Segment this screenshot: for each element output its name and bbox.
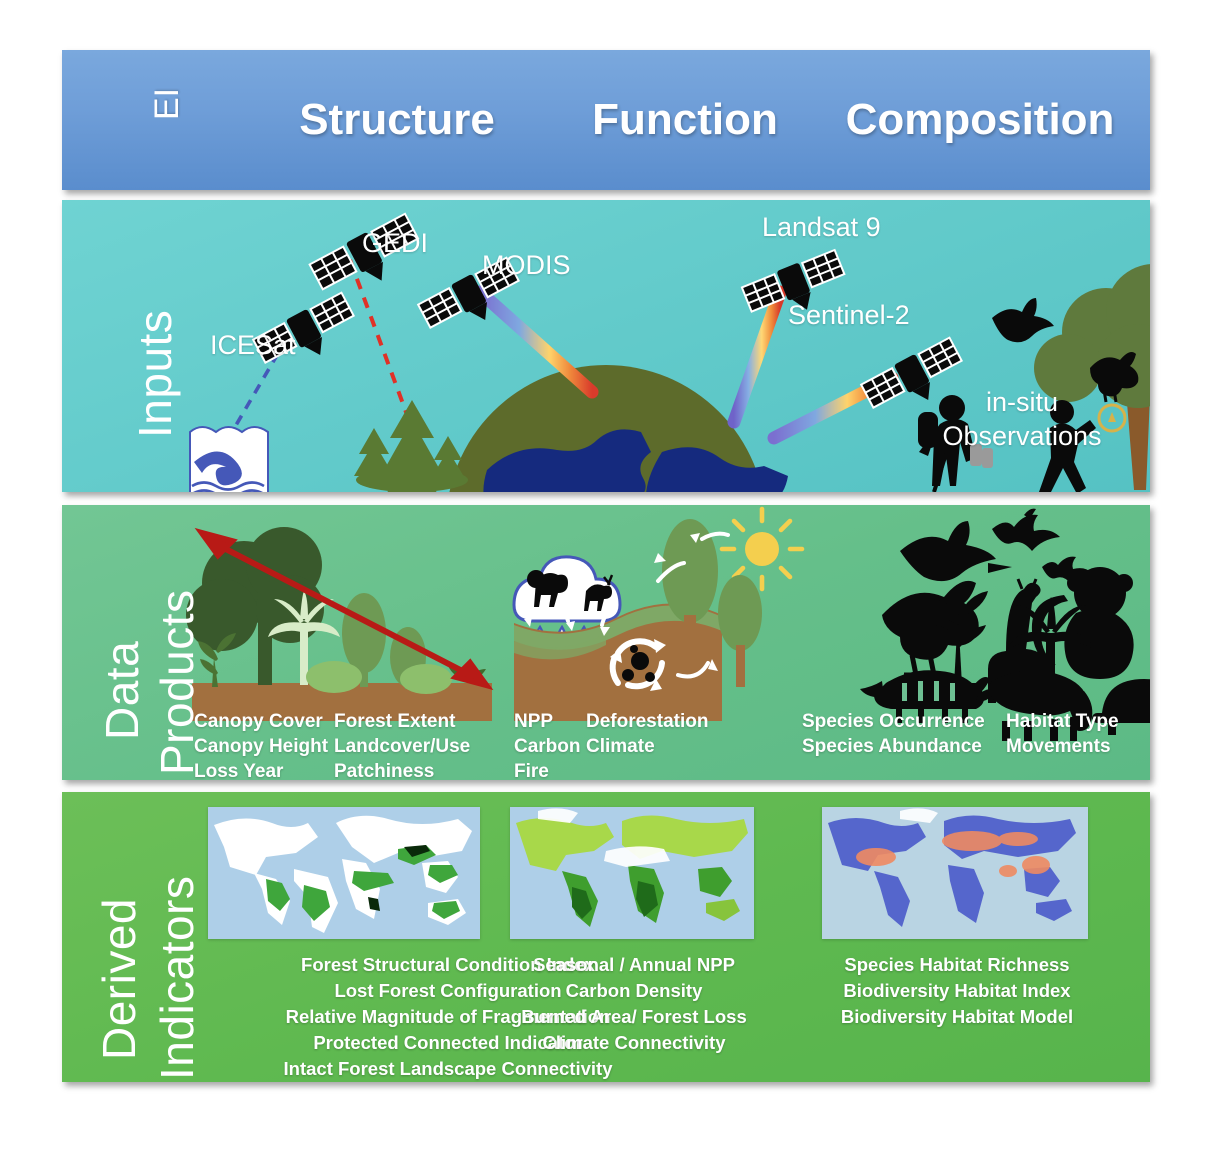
data-product-caption-deforestation: Deforestation Climate (586, 709, 708, 759)
inputs-row: GEDI ICESat MODIS Landsat 9 Sentinel-2 i… (62, 200, 1150, 492)
data-product-caption-npp: NPP Carbon Fire (514, 709, 581, 780)
map-thumbnail-npp (510, 807, 754, 939)
row-label-indicators: Indicators (150, 876, 204, 1080)
header-column-composition: Composition (820, 50, 1140, 190)
derived-indicators-row: Forest Structural Condition Index Lost F… (62, 792, 1150, 1082)
row-label-data: Data (95, 641, 149, 740)
header-column-function: Function (540, 50, 830, 190)
data-product-caption-habitat: Habitat Type Movements (1006, 709, 1119, 759)
sensor-label-landsat9: Landsat 9 (762, 212, 881, 243)
forest-target-icon (354, 400, 468, 492)
data-product-caption-forest-extent: Forest Extent Landcover/Use Patchiness (334, 709, 470, 780)
map-thumbnail-species-habitat-richness (822, 807, 1088, 939)
header-row: EI Structure Function Composition (62, 50, 1150, 190)
figure-canvas: EI Structure Function Composition (0, 0, 1212, 1149)
bird-icon (882, 581, 979, 675)
data-product-caption-canopy: Canopy Cover Canopy Height Loss Year (194, 709, 328, 780)
forest-profile-illustration (186, 527, 492, 721)
observation-target-icon (1099, 405, 1125, 431)
satellite-icon-gedi (309, 212, 428, 307)
row-label-products: Products (150, 589, 204, 775)
function-landscape-illustration (514, 509, 802, 721)
globe-icon (446, 365, 788, 492)
ocean-wave-icon (190, 427, 268, 492)
species-silhouettes (860, 509, 1150, 741)
data-product-caption-species: Species Occurrence Species Abundance (802, 709, 985, 759)
bat-icon (992, 509, 1060, 551)
hummingbird-icon (992, 298, 1054, 342)
landsat-beam (734, 292, 780, 422)
sensor-label-modis: MODIS (482, 250, 571, 281)
row-label-ei: EI (148, 88, 187, 120)
sensor-label-icesat: ICESat (210, 330, 296, 361)
derived-indicator-list-composition: Species Habitat Richness Biodiversity Ha… (812, 952, 1102, 1030)
sensor-label-sentinel2: Sentinel-2 (788, 300, 910, 331)
header-column-structure: Structure (247, 50, 547, 190)
row-label-inputs: Inputs (128, 310, 182, 438)
map-thumbnail-forest-structural-condition (208, 807, 480, 939)
modis-beam (480, 292, 592, 392)
sensor-label-gedi: GEDI (362, 228, 428, 259)
in-situ-observations-label: in-situ Observations (942, 385, 1102, 453)
data-products-row: Canopy Cover Canopy Height Loss Year For… (62, 505, 1150, 780)
row-label-derived: Derived (92, 898, 146, 1060)
derived-indicator-list-function: Seasonal / Annual NPP Carbon Density Bur… (506, 952, 762, 1056)
